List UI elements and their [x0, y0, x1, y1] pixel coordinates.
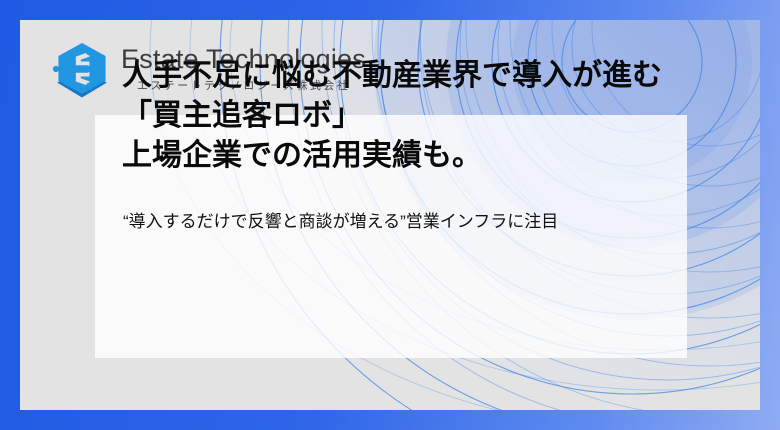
headline: 人手不足に悩む不動産業界で導入が進む 「買主追客ロボ」 上場企業での活用実績も。 [122, 56, 682, 176]
headline-line-2: 「買主追客ロボ」 [122, 96, 682, 136]
subtitle-text: “導入するだけで反響と商談が増える”営業インフラに注目 [123, 210, 558, 234]
slide-frame: Estate Technologies エステートテクノロジーズ株式会社 人手不… [0, 0, 780, 430]
headline-line-3: 上場企業での活用実績も。 [122, 136, 682, 176]
estate-technologies-hexagon-e-logo [51, 38, 113, 100]
headline-line-1: 人手不足に悩む不動産業界で導入が進む [122, 56, 682, 96]
slide-canvas: Estate Technologies エステートテクノロジーズ株式会社 人手不… [20, 20, 760, 410]
